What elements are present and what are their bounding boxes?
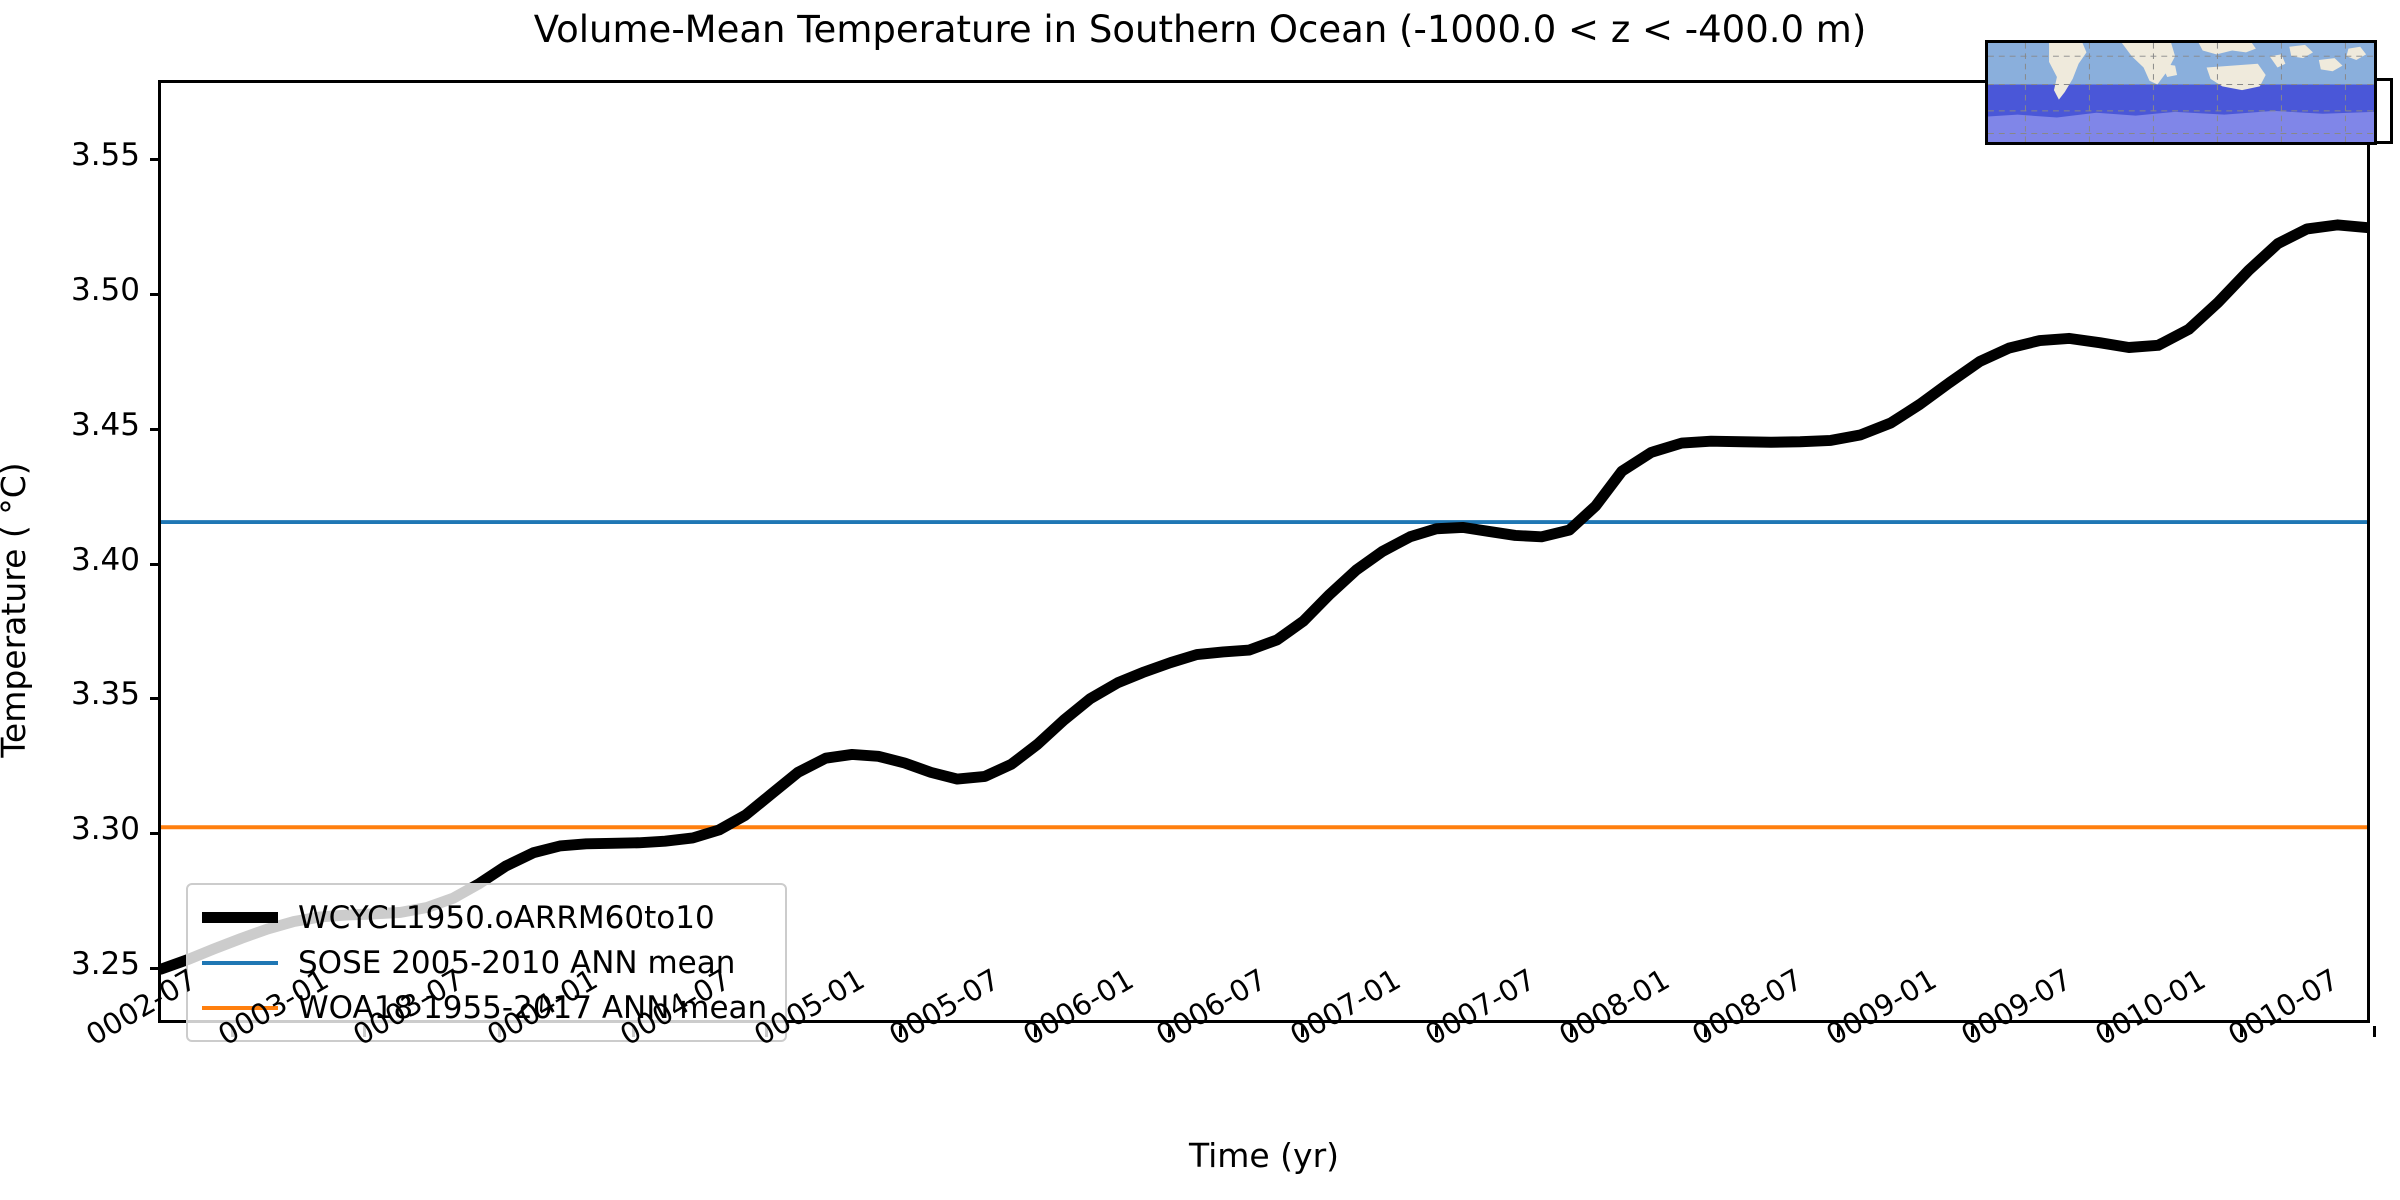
x-axis-label: Time (yr) bbox=[158, 1136, 2370, 1175]
legend-item-model: WCYCL1950.oARRM60to10 bbox=[202, 895, 767, 940]
ytick-mark bbox=[150, 428, 161, 431]
legend-label-sose: SOSE 2005-2010 ANN mean bbox=[298, 945, 735, 981]
figure-canvas: Volume-Mean Temperature in Southern Ocea… bbox=[0, 0, 2400, 1200]
ytick-mark bbox=[150, 832, 161, 835]
plot-axes: WCYCL1950.oARRM60to10 SOSE 2005-2010 ANN… bbox=[158, 80, 2370, 1023]
y-axis-label: Temperature ( °C) bbox=[0, 400, 33, 820]
southern-ocean-region-map bbox=[1985, 40, 2377, 145]
inset-colorbar bbox=[2376, 78, 2393, 144]
ytick-mark bbox=[150, 967, 161, 970]
ytick-mark bbox=[150, 158, 161, 161]
ytick-label: 3.50 bbox=[0, 272, 140, 308]
ytick-mark bbox=[150, 293, 161, 296]
ytick-label: 3.55 bbox=[0, 137, 140, 173]
legend-swatch-model bbox=[202, 912, 278, 923]
model-timeseries-line bbox=[161, 225, 2367, 969]
legend-label-model: WCYCL1950.oARRM60to10 bbox=[298, 900, 715, 936]
ytick-mark bbox=[150, 697, 161, 700]
ytick-label: 3.25 bbox=[0, 946, 140, 982]
xtick-mark bbox=[2373, 1026, 2376, 1037]
plot-lines-svg bbox=[161, 83, 2367, 1020]
inset-map-svg bbox=[1988, 43, 2374, 142]
ytick-mark bbox=[150, 563, 161, 566]
legend-swatch-sose bbox=[202, 961, 278, 965]
